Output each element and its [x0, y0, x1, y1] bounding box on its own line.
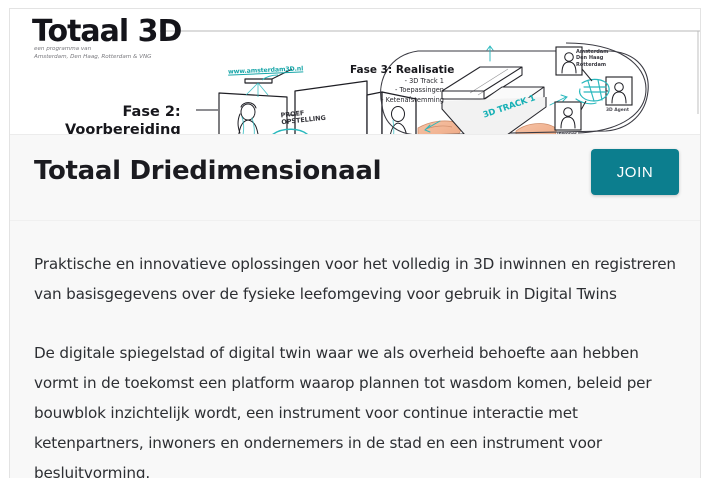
brand-subtitle-line1: een programma van: [34, 46, 91, 52]
brand-subtitle: een programma van Amsterdam, Den Haag, R…: [34, 46, 151, 61]
brand-title: Totaal 3D: [32, 14, 181, 49]
community-card: Totaal 3D een programma van Amsterdam, D…: [9, 8, 701, 478]
fase2-label: Fase 2: Voorbereiding: [103, 103, 181, 135]
fase3-bullet-list: - 3D Track 1 - Toepassingen - Ketenafste…: [366, 77, 444, 105]
page-root: Totaal 3D een programma van Amsterdam, D…: [0, 0, 728, 475]
fase2-line1: Fase 2:: [122, 104, 180, 120]
fase3-bullet-3: - Ketenafstemming: [366, 96, 444, 105]
description-section: Praktische en innovatieve oplossingen vo…: [10, 221, 700, 478]
description-paragraph-1: Praktische en innovatieve oplossingen vo…: [34, 221, 676, 309]
fase3-label: Fase 3: Realisatie: [350, 64, 454, 76]
fase2-line2: Voorbereiding: [65, 121, 181, 135]
banner-image: Totaal 3D een programma van Amsterdam, D…: [10, 9, 700, 135]
page-title: Totaal Driedimensionaal: [34, 156, 381, 186]
caption-agent: 3D Agent: [606, 108, 629, 113]
handwritten-cities: Amsterdam Den Haag Rotterdam: [576, 49, 608, 68]
title-row: Totaal Driedimensionaal JOIN: [10, 135, 700, 221]
description-paragraph-2: De digitale spiegelstad of digital twin …: [34, 309, 676, 478]
brand-subtitle-line2: Amsterdam, Den Haag, Rotterdam & VNG: [34, 54, 151, 60]
city-line3: Rotterdam: [576, 62, 608, 68]
fase3-bullet-2: - Toepassingen: [366, 86, 444, 95]
join-button[interactable]: JOIN: [591, 149, 679, 195]
fase3-bullet-1: - 3D Track 1: [366, 77, 444, 86]
